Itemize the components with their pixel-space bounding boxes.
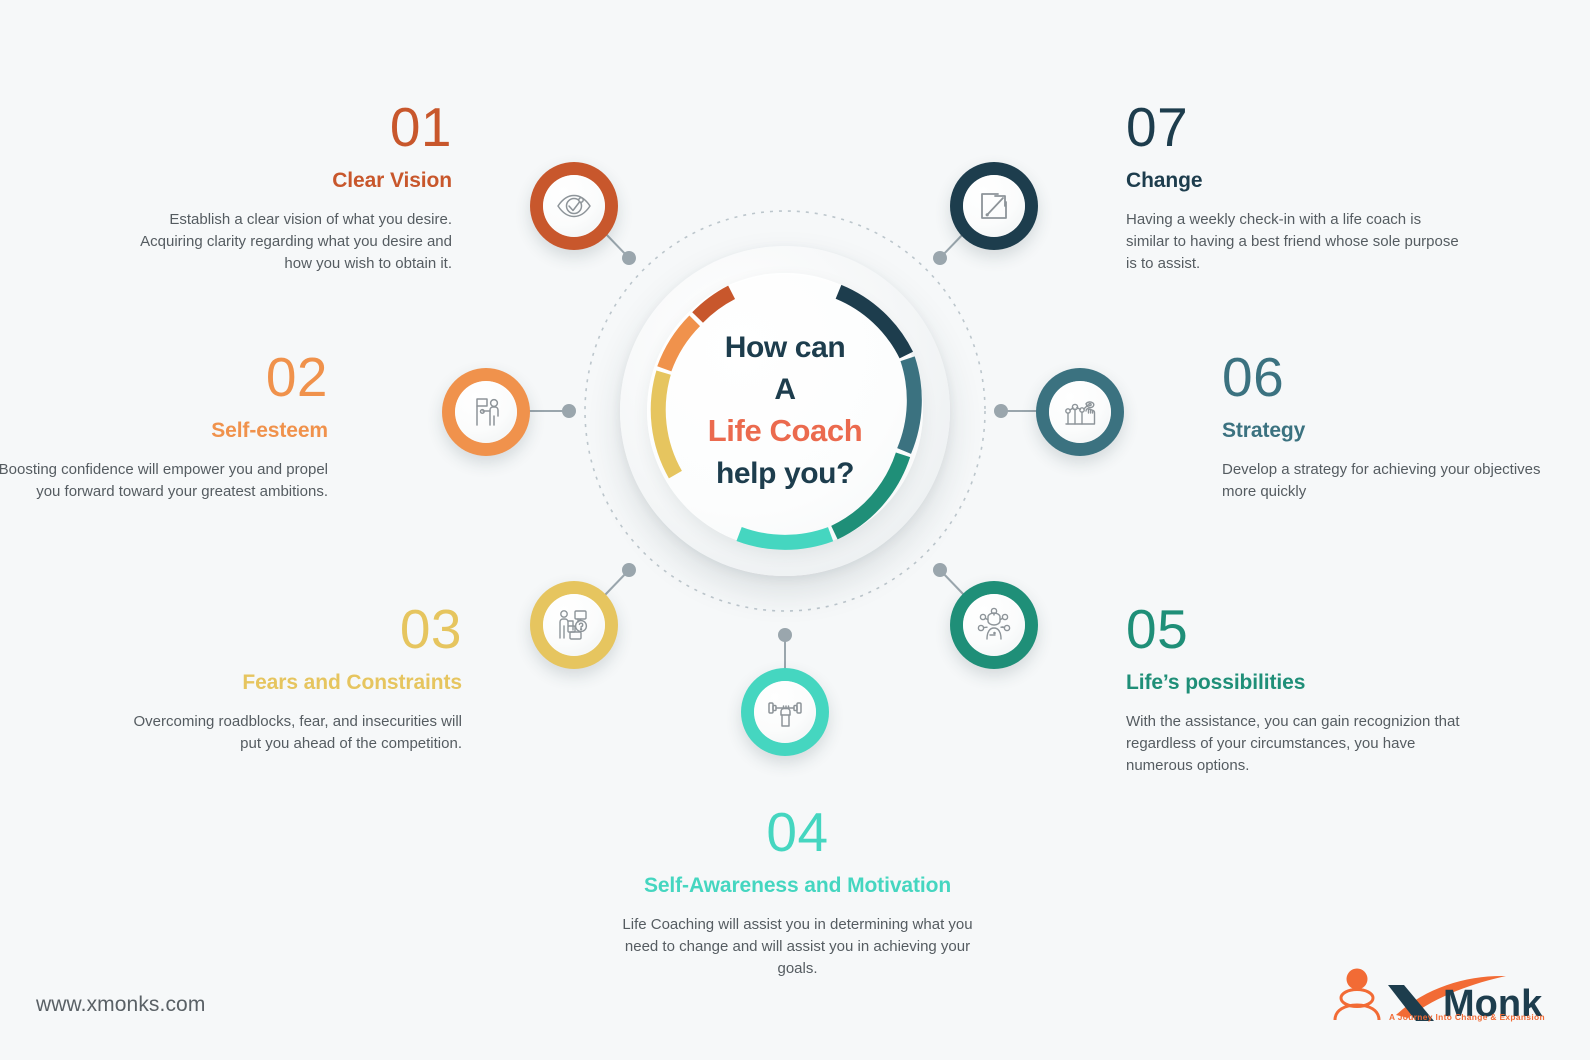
step-number-04: 04 [605,805,990,860]
step-block-06: 06 Strategy Develop a strategy for achie… [1222,350,1562,503]
step-body-06: Develop a strategy for achieving your ob… [1222,459,1562,503]
eye-vision-icon [554,186,594,226]
node-07-change[interactable] [950,162,1038,250]
step-block-04: 04 Self-Awareness and Motivation Life Co… [605,805,990,981]
hub-line-3-accent: Life Coach [708,411,862,452]
step-block-03: 03 Fears and Constraints Overcoming road… [122,602,462,755]
step-title-07: Change [1126,169,1466,193]
node-05-lifes-possibilities[interactable] [950,581,1038,669]
person-flag-icon [466,392,506,432]
step-block-07: 07 Change Having a weekly check-in with … [1126,100,1466,276]
step-number-07: 07 [1126,100,1466,155]
logo-tagline: A Journey Into Change & Expansion [1389,1012,1545,1022]
step-body-01: Establish a clear vision of what you des… [112,209,452,276]
step-title-04: Self-Awareness and Motivation [605,874,990,898]
step-block-05: 05 Life’s possibilities With the assista… [1126,602,1466,778]
center-hub-text: How can A Life Coach help you? [620,246,950,576]
node-05-disc [963,594,1025,656]
node-01-clear-vision[interactable] [530,162,618,250]
infographic-canvas: How can A Life Coach help you? [0,0,1590,1060]
person-question-bubbles-icon [553,604,595,646]
step-number-03: 03 [122,602,462,657]
step-number-06: 06 [1222,350,1562,405]
center-hub: How can A Life Coach help you? [620,246,950,576]
hub-line-4: help you? [716,454,854,494]
node-02-self-esteem[interactable] [442,368,530,456]
step-title-06: Strategy [1222,419,1562,443]
node-01-disc [543,175,605,237]
node-03-disc [543,594,605,656]
step-body-04: Life Coaching will assist you in determi… [605,914,990,981]
node-06-strategy[interactable] [1036,368,1124,456]
node-03-fears-and-constraints[interactable] [530,581,618,669]
step-block-02: 02 Self-esteem Boosting confidence will … [0,350,328,503]
hub-line-1: How can [725,328,846,368]
hub-line-2: A [774,370,795,410]
expand-arrow-square-icon [974,186,1014,226]
node-04-self-awareness[interactable] [741,668,829,756]
step-body-05: With the assistance, you can gain recogn… [1126,711,1466,778]
node-04-disc [754,681,816,743]
node-07-disc [963,175,1025,237]
step-number-02: 02 [0,350,328,405]
step-number-05: 05 [1126,602,1466,657]
step-body-03: Overcoming roadblocks, fear, and insecur… [122,711,462,755]
step-title-01: Clear Vision [112,169,452,193]
step-body-07: Having a weekly check-in with a life coa… [1126,209,1466,276]
hand-dumbbell-icon [765,692,805,732]
person-network-nodes-icon [973,604,1015,646]
step-number-01: 01 [112,100,452,155]
step-title-02: Self-esteem [0,419,328,443]
step-title-05: Life’s possibilities [1126,671,1466,695]
step-title-03: Fears and Constraints [122,671,462,695]
site-url[interactable]: www.xmonks.com [36,993,205,1017]
node-02-disc [455,381,517,443]
node-06-disc [1049,381,1111,443]
growth-chart-hand-icon [1059,391,1101,433]
step-block-01: 01 Clear Vision Establish a clear vision… [112,100,452,276]
step-body-02: Boosting confidence will empower you and… [0,459,328,503]
